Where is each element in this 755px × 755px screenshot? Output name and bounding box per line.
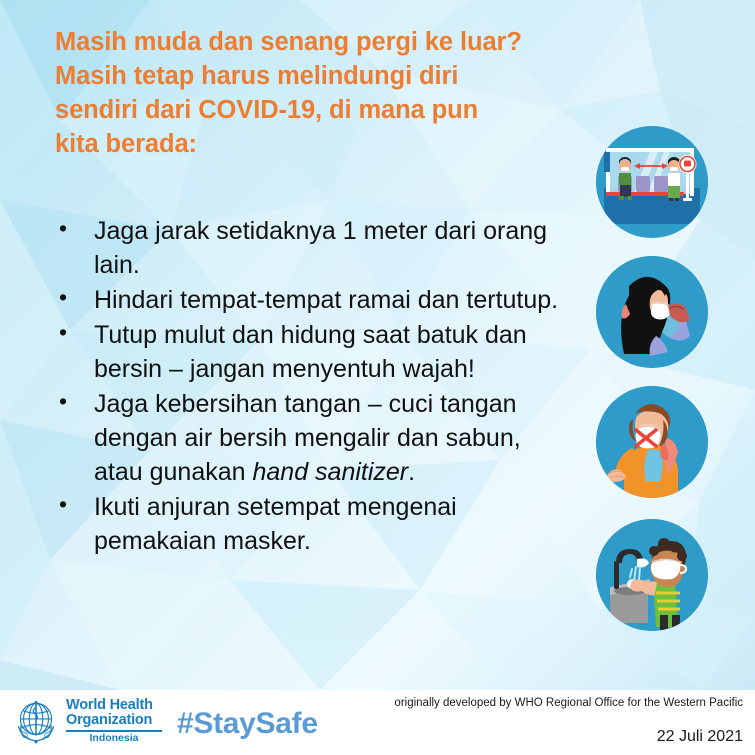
list-item: Jaga kebersihan tangan – cuci tangan den… (52, 387, 572, 489)
page-title: Masih muda dan senang pergi ke luar? Mas… (55, 26, 585, 162)
list-item: Tutup mulut dan hidung saat batuk dan be… (52, 318, 572, 386)
credit-text: originally developed by WHO Regional Off… (394, 697, 743, 709)
who-name-line-1: World Health (66, 698, 162, 713)
list-item-text: Jaga jarak setidaknya 1 meter dari orang… (94, 217, 547, 279)
illustration-hand-washing (596, 519, 708, 631)
list-item-text: Tutup mulut dan hidung saat batuk dan be… (94, 321, 527, 383)
footer-bar: World Health Organization Indonesia #Sta… (0, 690, 755, 755)
list-item-text: Hindari tempat-tempat ramai dan tertutup… (94, 286, 558, 314)
who-name-line-2: Organization (66, 713, 162, 728)
illustration-cover-cough-sneeze (596, 386, 708, 498)
publication-date: 22 Juli 2021 (657, 728, 743, 746)
infographic-poster: Masih muda dan senang pergi ke luar? Mas… (0, 0, 755, 755)
who-emblem-icon (10, 695, 62, 747)
who-wordmark: World Health Organization Indonesia (66, 698, 162, 744)
list-item: Ikuti anjuran setempat mengenai pemakaia… (52, 490, 572, 558)
heading-line-2: Masih tetap harus melindungi diri (55, 62, 458, 90)
list-item: Jaga jarak setidaknya 1 meter dari orang… (52, 214, 572, 282)
heading-line-3: sendiri dari COVID-19, di mana pun (55, 96, 478, 124)
illustration-physical-distancing-bus-stop (596, 126, 708, 238)
list-item: Hindari tempat-tempat ramai dan tertutup… (52, 283, 572, 317)
illustration-avoid-crowded-places (596, 256, 708, 368)
hashtag-staysafe: #StaySafe (177, 707, 318, 741)
heading-line-1: Masih muda dan senang pergi ke luar? (55, 28, 522, 56)
heading-line-4: kita berada: (55, 130, 197, 158)
list-item-text: Ikuti anjuran setempat mengenai pemakaia… (94, 493, 457, 555)
who-logo: World Health Organization Indonesia (10, 695, 162, 747)
prevention-tips-list: Jaga jarak setidaknya 1 meter dari orang… (52, 214, 572, 559)
who-country-label: Indonesia (66, 733, 162, 744)
list-item-text-post: . (408, 458, 415, 486)
list-item-text-emphasis: hand sanitizer (252, 458, 408, 486)
